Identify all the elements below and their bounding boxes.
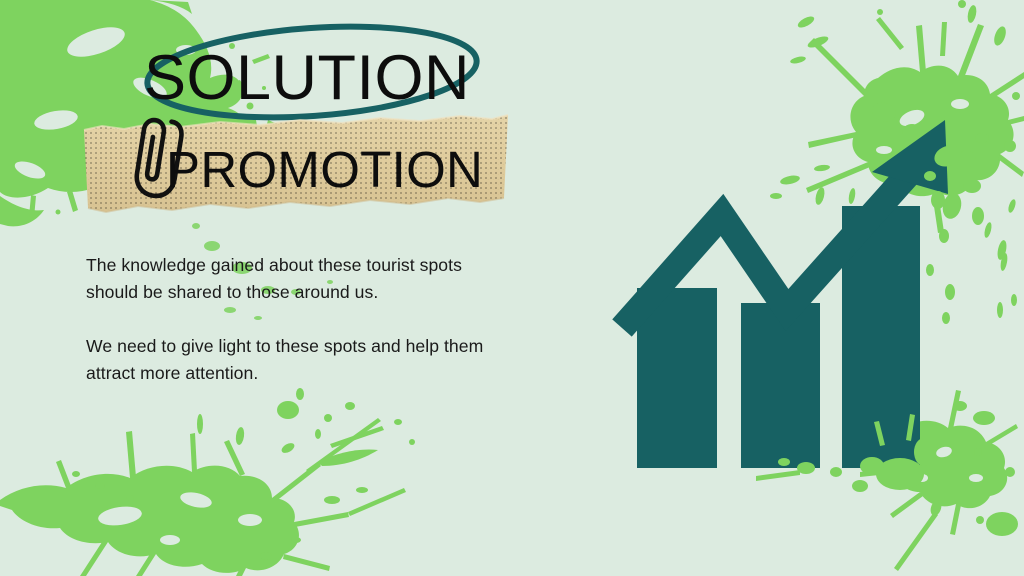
slide-canvas: SOLUTION: [0, 0, 1024, 576]
growth-chart-graphic: [600, 90, 1000, 490]
body-copy: The knowledge gained about these tourist…: [86, 252, 506, 387]
page-title: SOLUTION: [144, 47, 470, 110]
body-paragraph-1: The knowledge gained about these tourist…: [86, 252, 506, 306]
page-subtitle: PROMOTION: [166, 144, 483, 195]
chart-bar-2: [741, 303, 820, 468]
tape-group: PROMOTION: [80, 112, 510, 217]
body-paragraph-2: We need to give light to these spots and…: [86, 333, 506, 387]
splatter-bottom-left: [0, 388, 415, 576]
